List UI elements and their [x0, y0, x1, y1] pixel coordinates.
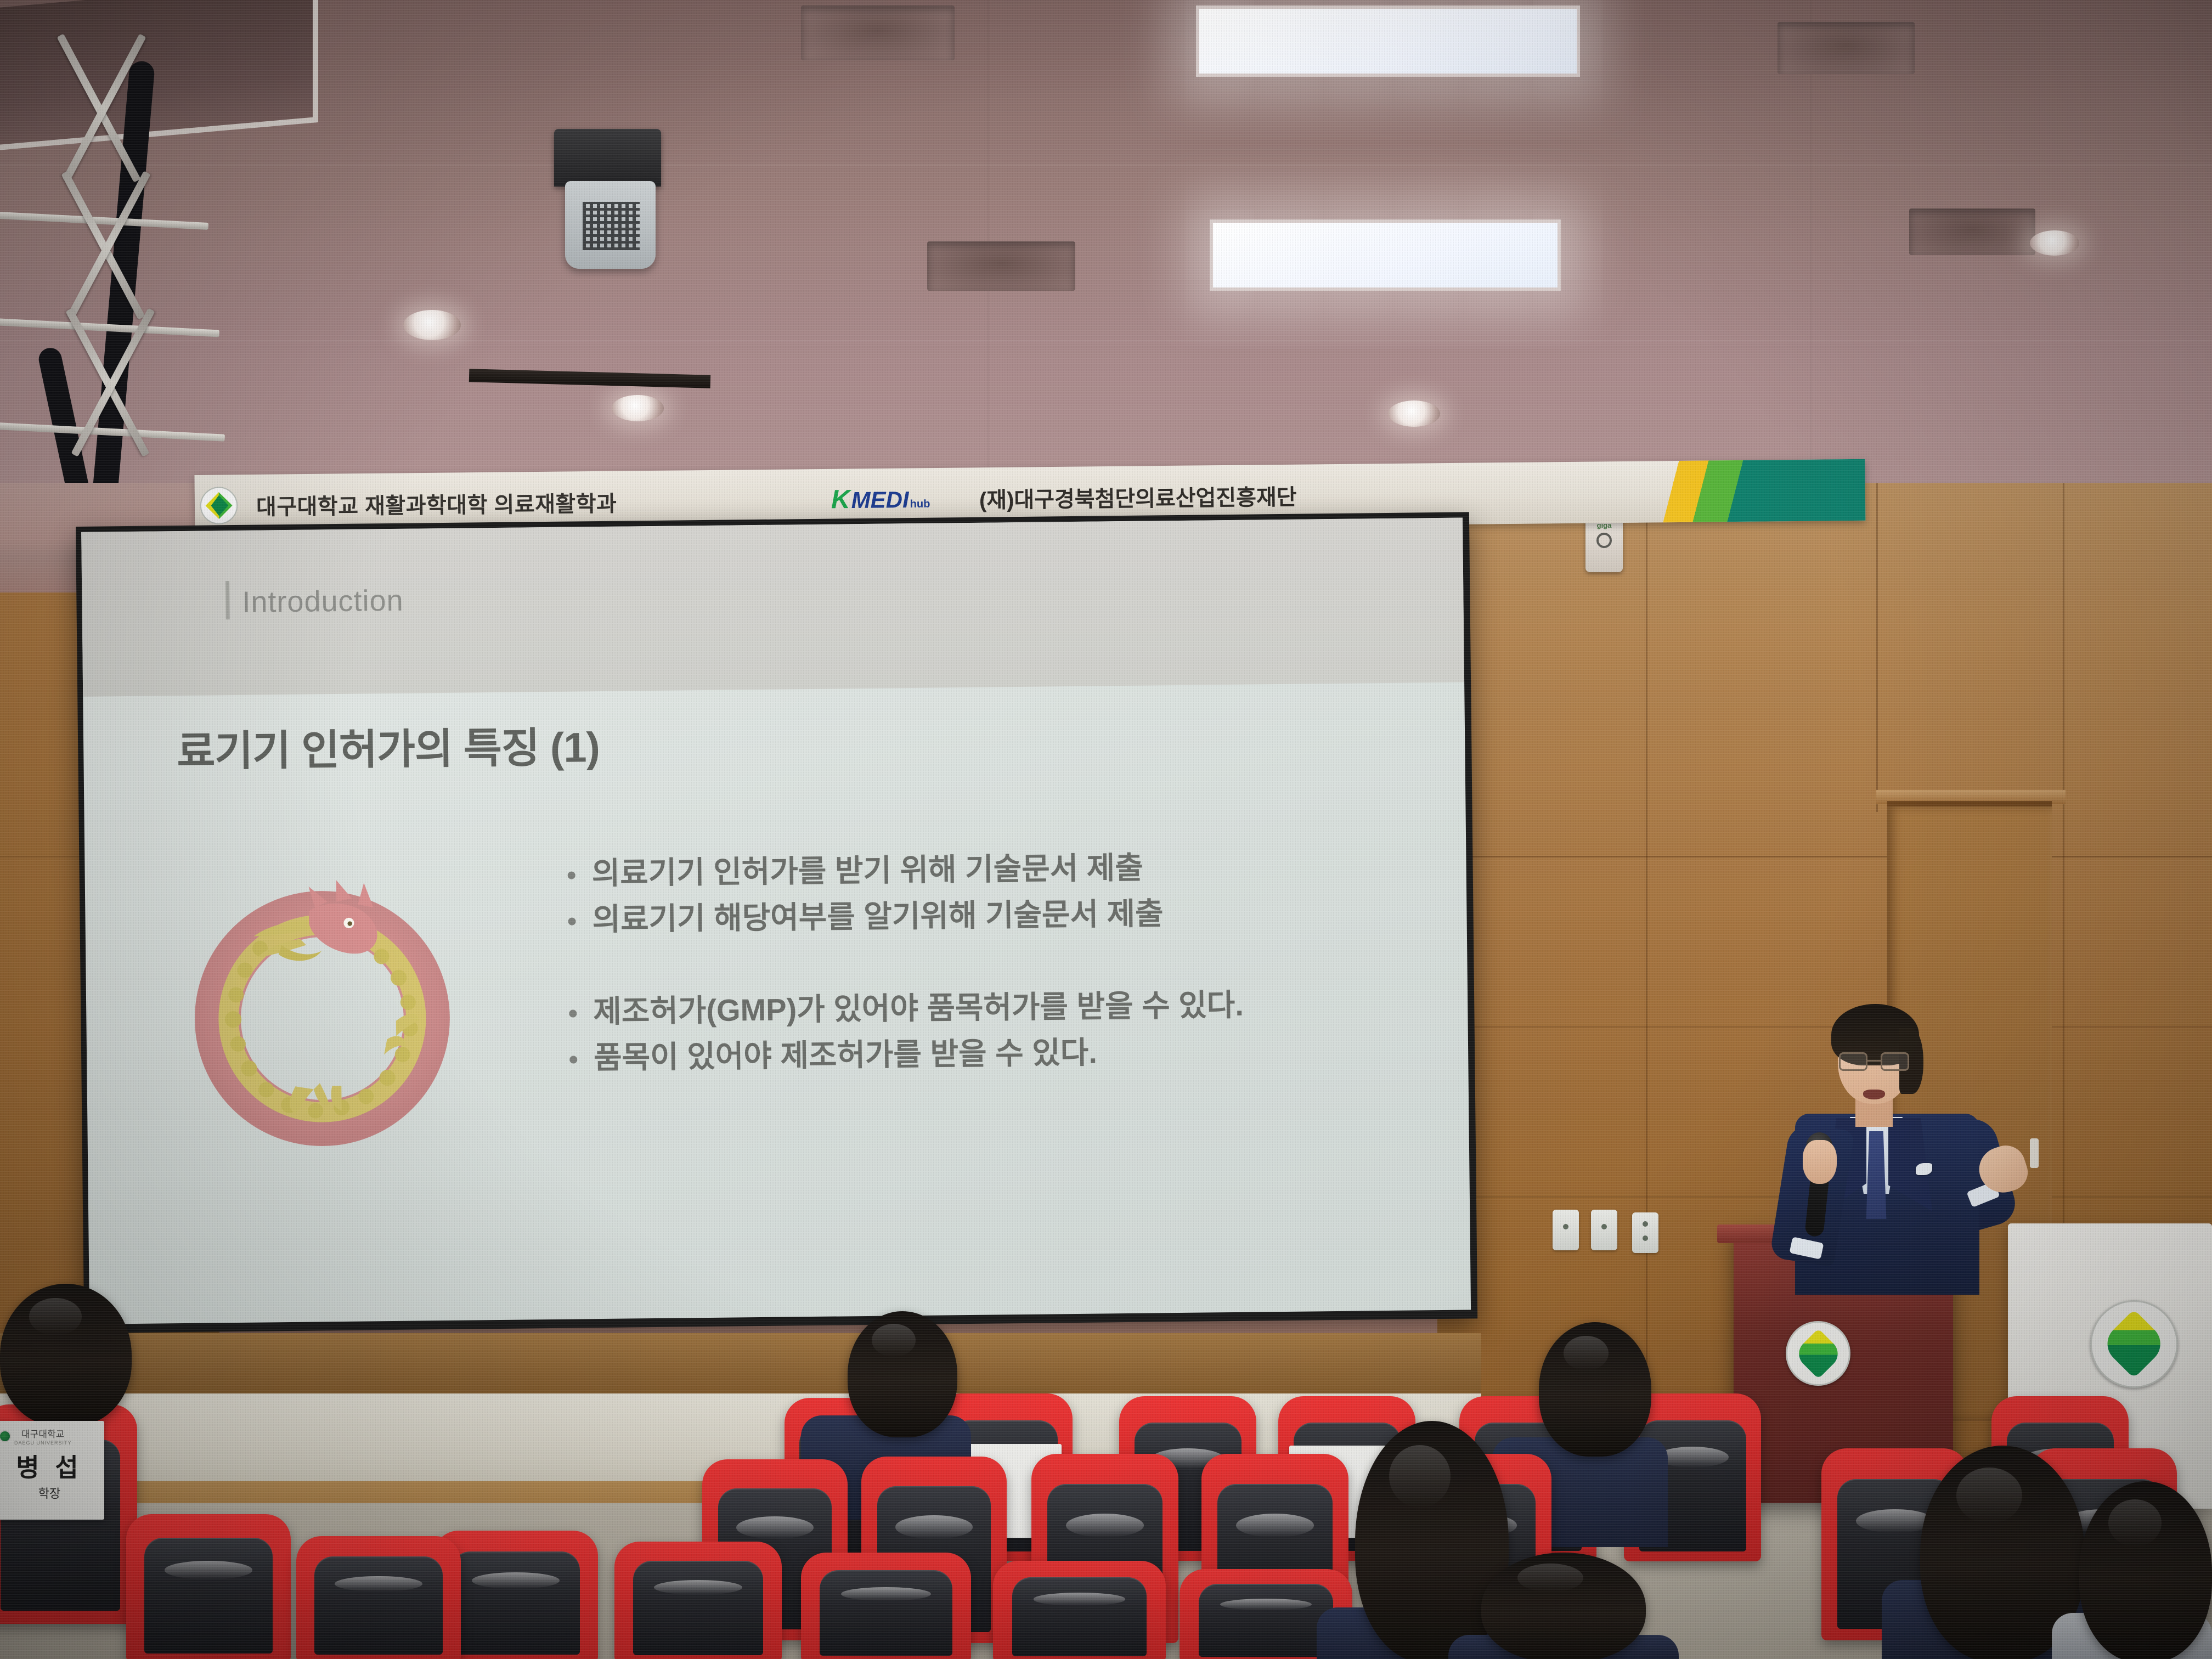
seat-pad [144, 1538, 273, 1654]
seat[interactable] [296, 1536, 461, 1659]
slide-bullet-text: 제조허가(GMP)가 있어야 품목허가를 받을 수 있다. [593, 982, 1244, 1035]
presenter [1756, 982, 2019, 1289]
slide-kicker-rule [225, 581, 230, 619]
banner-left-text: 대구대학교 재활과학대학 의료재활학과 [256, 486, 617, 521]
daegu-university-emblem-icon [2090, 1300, 2178, 1388]
attendee-head [848, 1311, 957, 1437]
presenter-hand-holding-mic [1803, 1140, 1837, 1184]
seat-sheen [1236, 1514, 1314, 1537]
bullet-marker-icon [569, 1009, 577, 1017]
daegu-university-emblem-icon [1786, 1321, 1850, 1386]
glasses-lens [1881, 1052, 1909, 1071]
presenter-glasses-icon [1839, 1052, 1909, 1071]
banner-color-corner [1634, 459, 1865, 523]
kmedihub-hub: hub [910, 498, 930, 511]
wood-seam [2063, 483, 2064, 1251]
slide-bullet: 품목이 있어야 제조허가를 받을 수 있다. [569, 1026, 1426, 1081]
attendee-head [2079, 1481, 2212, 1659]
seat-pad [1199, 1584, 1334, 1657]
presenter-lapel-pin [1916, 1163, 1932, 1175]
name-card-logo: 대구대학교 DAEGU UNIVERSITY [0, 1426, 100, 1446]
bullet-marker-icon [568, 871, 575, 879]
attendee-head [0, 1284, 132, 1426]
glasses-lens [1839, 1052, 1867, 1071]
seat-pad [820, 1570, 952, 1656]
seat-pad [1012, 1577, 1147, 1656]
bullet-group-spacer [568, 934, 1425, 989]
ceiling-downlight [1388, 400, 1440, 427]
daegu-university-logo-icon [199, 486, 239, 526]
wall-outlet-plate[interactable] [1591, 1210, 1617, 1250]
board-emblem [2090, 1300, 2178, 1388]
ceiling-downlight [403, 310, 461, 340]
name-card-university-sub: DAEGU UNIVERSITY [14, 1440, 72, 1446]
slide-bullet: 의료기기 해당여부를 알기위해 기술문서 제출 [568, 888, 1424, 943]
ceiling-downlight [612, 395, 664, 421]
ceiling-vent [927, 241, 1075, 291]
emblem-diamond [1793, 1328, 1843, 1379]
led-panel-light [1210, 219, 1561, 291]
slide-bullet-text: 의료기기 해당여부를 알기위해 기술문서 제출 [592, 890, 1164, 943]
lift-rail [0, 211, 208, 230]
ouroboros-dragon-icon [167, 857, 477, 1167]
seat-pad [452, 1551, 580, 1654]
presenter-mouth [1863, 1090, 1885, 1099]
bullet-marker-icon [569, 1056, 577, 1063]
seat-sheen [165, 1561, 252, 1579]
slide-bullet-text: 의료기기 인허가를 받기 위해 기술문서 제출 [591, 845, 1143, 897]
ceiling-downlight [2030, 230, 2079, 256]
podium-emblem [1786, 1321, 1850, 1386]
slide-bullet: 의료기기 인허가를 받기 위해 기술문서 제출 [567, 842, 1424, 896]
seat-sheen [895, 1515, 973, 1538]
glasses-bridge [1867, 1060, 1881, 1062]
wall-speaker-ring [1596, 533, 1612, 548]
projection-screen-frame: Introduction 료기기 인허가의 특징 (1) [76, 512, 1477, 1333]
lecture-hall-photo: giga 대구대학교 재활과학대학 의료재활학과 K MEDI hub (재)대… [0, 0, 2212, 1659]
seat[interactable] [993, 1561, 1166, 1659]
kmedihub-medi: MEDI [851, 487, 909, 513]
seat-sheen [335, 1576, 422, 1592]
slide-bullet-list: 의료기기 인허가를 받기 위해 기술문서 제출 의료기기 해당여부를 알기위해 … [567, 842, 1425, 1081]
speaker-grille-holes [583, 202, 640, 250]
seat-sheen [472, 1572, 559, 1589]
kmedihub-logo: K MEDI hub [831, 484, 930, 515]
ceiling-vent [1778, 22, 1915, 74]
ceiling-hatch [0, 0, 318, 152]
led-panel-light [1196, 5, 1580, 77]
attendee-head [1539, 1322, 1651, 1457]
name-card-name: 병 섭 [0, 1448, 100, 1484]
seat-name-card: 대구대학교 DAEGU UNIVERSITY 병 섭 학장 [0, 1421, 104, 1520]
wall-switch-plate[interactable] [1553, 1210, 1579, 1250]
seat-sheen [1034, 1593, 1125, 1605]
wall-outlet-plate[interactable] [1632, 1212, 1658, 1253]
seat-pad [314, 1556, 443, 1655]
projection-screen: Introduction 료기기 인허가의 특징 (1) [81, 518, 1471, 1324]
seat-sheen [736, 1516, 814, 1539]
door-handle[interactable] [2030, 1138, 2039, 1168]
seat-sheen [1220, 1599, 1312, 1610]
wood-seam [1646, 483, 1647, 1459]
seat-sheen [1066, 1514, 1144, 1537]
seat[interactable] [614, 1542, 782, 1659]
ceiling-vent [1909, 208, 2035, 255]
slide-bullet-text: 품목이 있어야 제조허가를 받을 수 있다. [594, 1030, 1098, 1081]
ceiling-speaker [554, 129, 661, 187]
kmedihub-k: K [831, 484, 850, 515]
name-card-university: 대구대학교 [14, 1426, 72, 1440]
slide-bullet: 제조허가(GMP)가 있어야 품목허가를 받을 수 있다. [569, 980, 1425, 1035]
university-seal-icon [0, 1430, 11, 1442]
emblem-diamond [2100, 1310, 2169, 1379]
wood-seam [1437, 856, 2212, 857]
seat-sheen [841, 1587, 931, 1601]
slide-title: 료기기 인허가의 특징 (1) [177, 713, 600, 778]
attendee-head [1481, 1553, 1646, 1659]
wood-seam [1876, 483, 1878, 812]
seat[interactable] [126, 1514, 291, 1659]
banner-right-text: (재)대구경북첨단의료산업진흥재단 [979, 479, 1297, 515]
ceiling-vent [801, 5, 955, 60]
seat-pad [633, 1561, 764, 1655]
seat[interactable] [801, 1553, 971, 1659]
name-card-role: 학장 [0, 1484, 100, 1502]
bullet-marker-icon [568, 917, 576, 925]
seat-sheen [654, 1580, 743, 1595]
slide-kicker: Introduction [242, 584, 404, 619]
